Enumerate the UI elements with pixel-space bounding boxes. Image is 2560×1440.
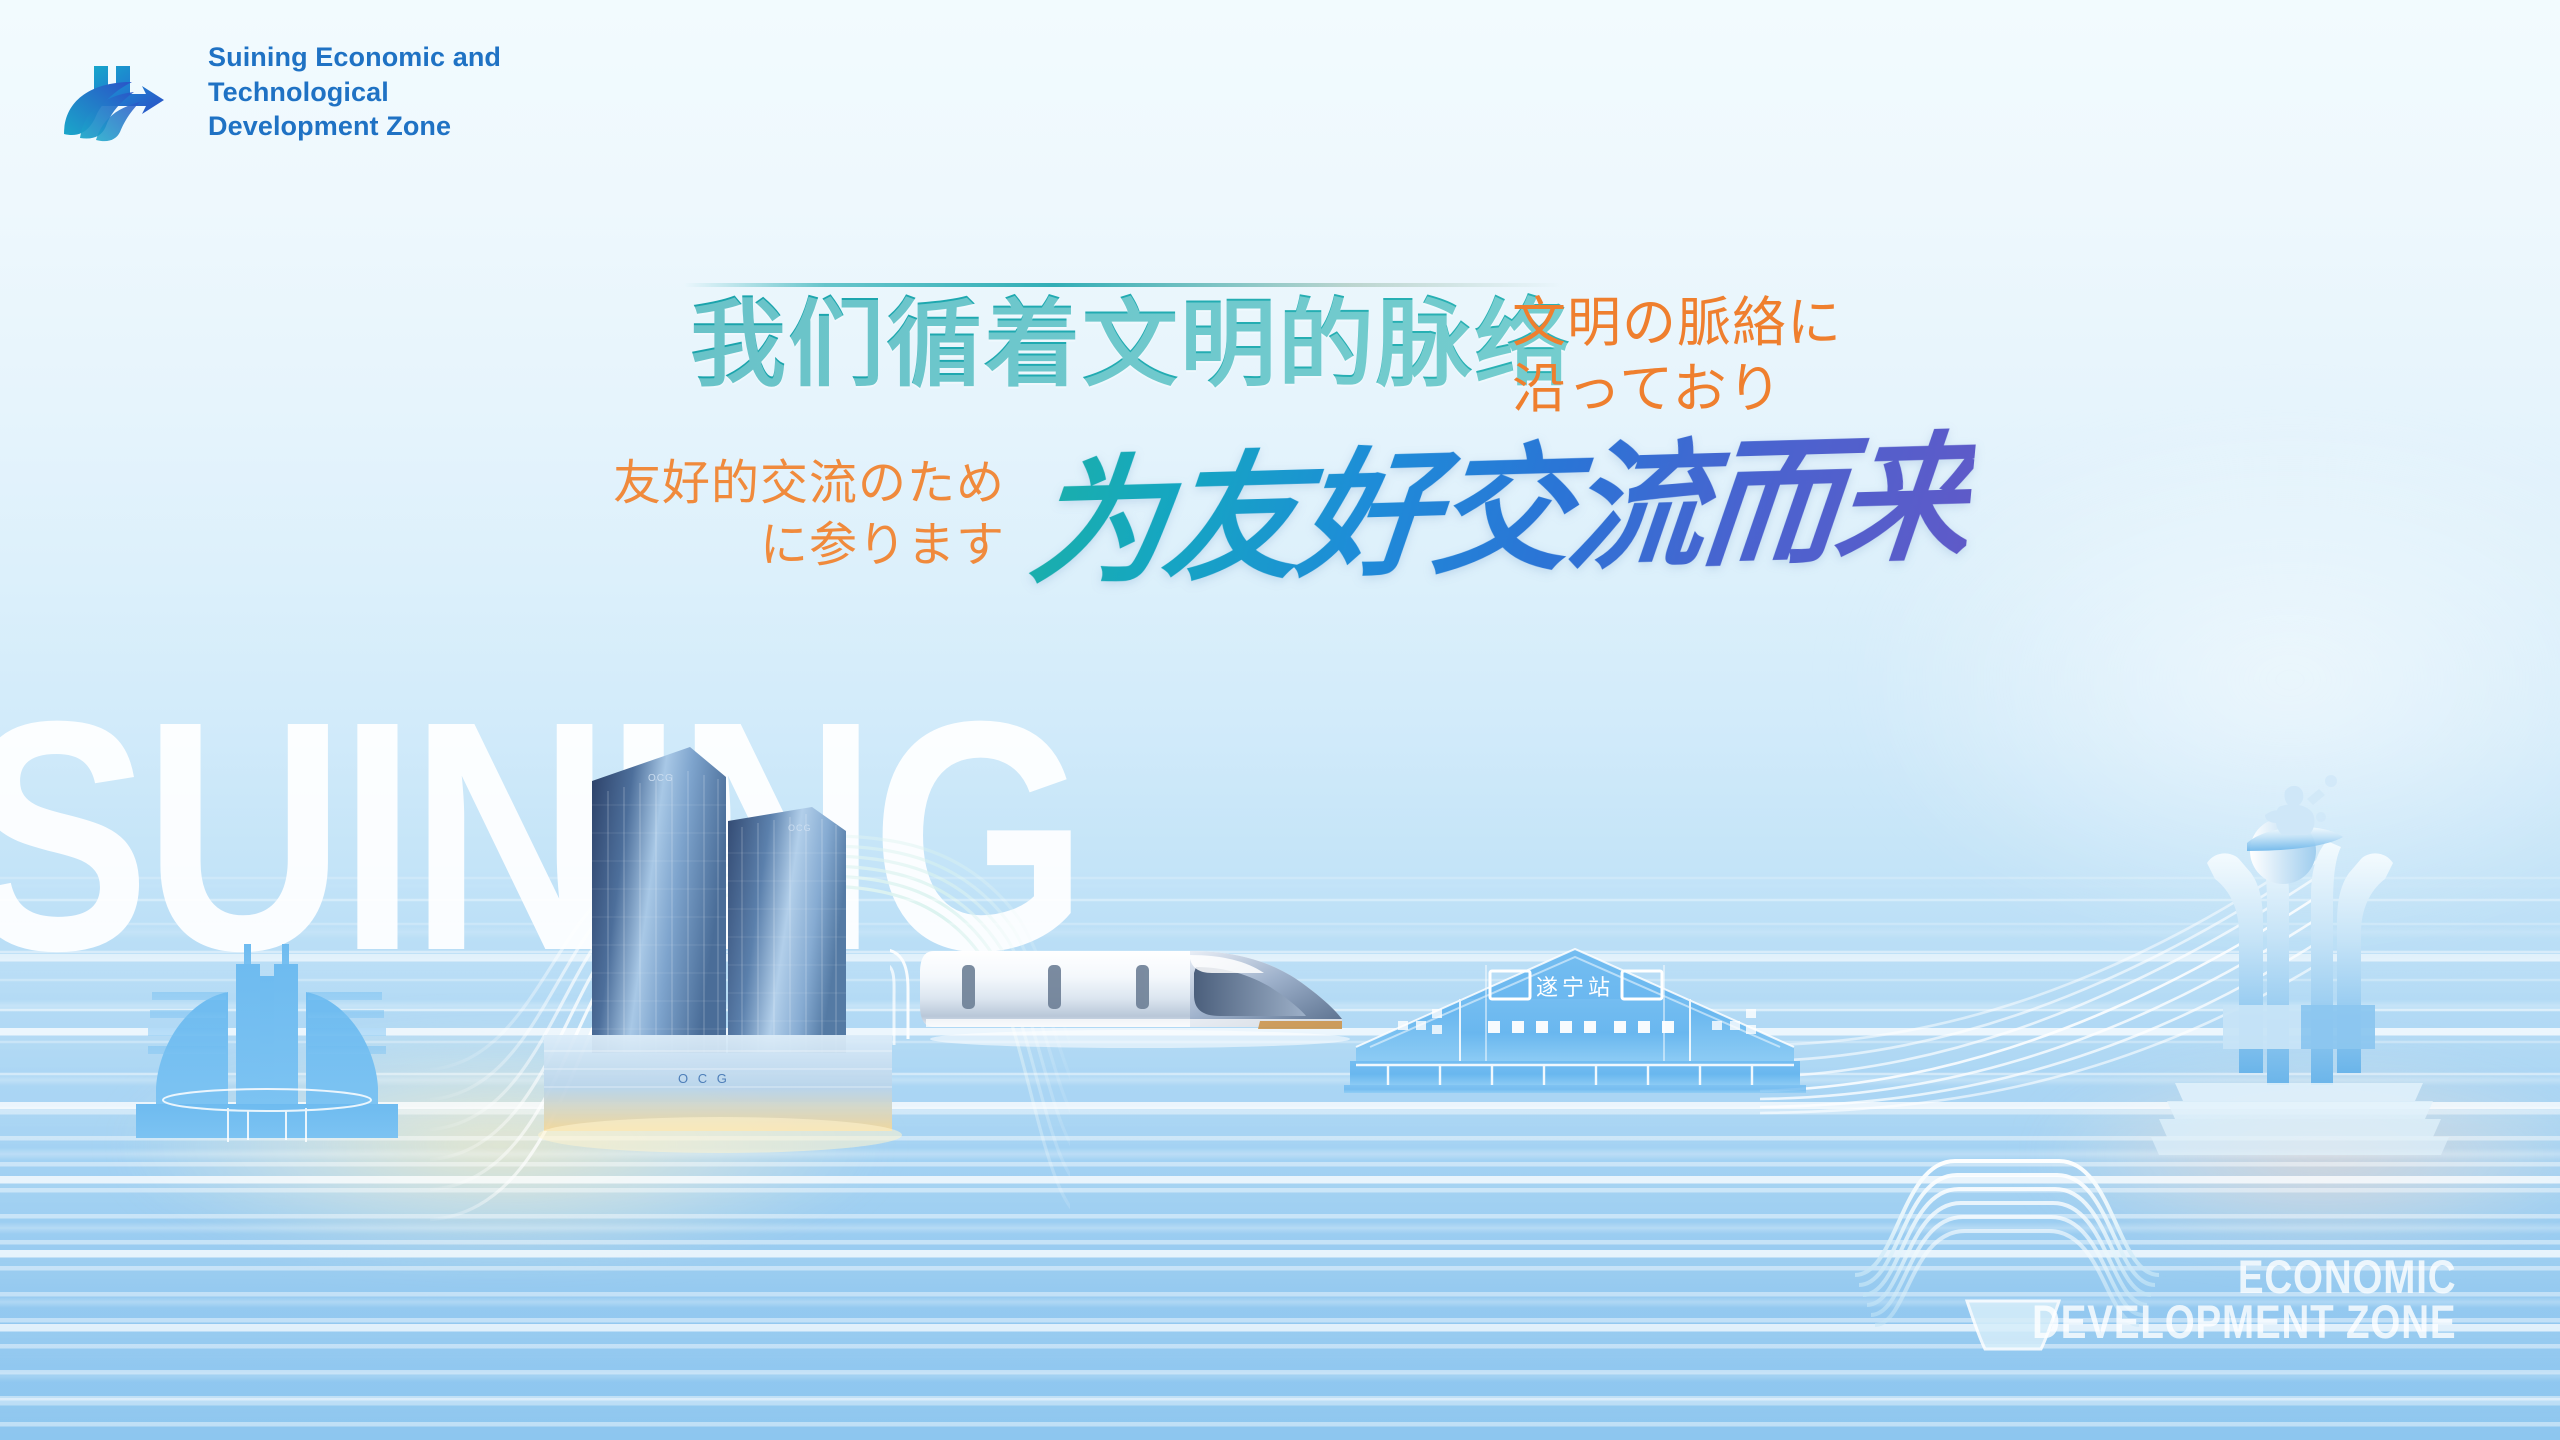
city-monument-sculpture-icon xyxy=(2135,755,2465,1165)
edz-wordmark-line1: ECONOMIC xyxy=(2032,1254,2456,1299)
svg-text:O C G: O C G xyxy=(678,1071,730,1086)
radiating-wave-fan xyxy=(1760,855,2320,1115)
headline-chinese-calligraphy: 为友好交流而来 xyxy=(1023,426,1978,597)
brand-logo[interactable]: Suining Economic and Technological Devel… xyxy=(58,38,501,146)
edz-wordmark: ECONOMIC DEVELOPMENT ZONE xyxy=(1939,1254,2456,1344)
headline-chinese-primary: 我们循着文明的脉络 xyxy=(690,292,1572,396)
headline-japanese-right: 文明の脈絡に 沿っており xyxy=(1512,290,1842,422)
headline-japanese-left: 友好的交流のため に参ります xyxy=(565,452,1005,577)
banner-stage: SUINING xyxy=(0,0,2560,1440)
station-sign-text: 遂宁站 xyxy=(1536,976,1614,1001)
edz-wordmark-line2: DEVELOPMENT ZONE xyxy=(2032,1299,2456,1344)
city-watermark: SUINING xyxy=(0,672,1082,999)
railway-station-icon: 遂宁站 xyxy=(1340,925,1810,1120)
warm-glow-left xyxy=(120,1030,880,1260)
suining-edz-logo-icon xyxy=(58,38,186,146)
brand-logo-text: Suining Economic and Technological Devel… xyxy=(208,40,501,144)
warm-glow-right xyxy=(2040,1060,2560,1250)
